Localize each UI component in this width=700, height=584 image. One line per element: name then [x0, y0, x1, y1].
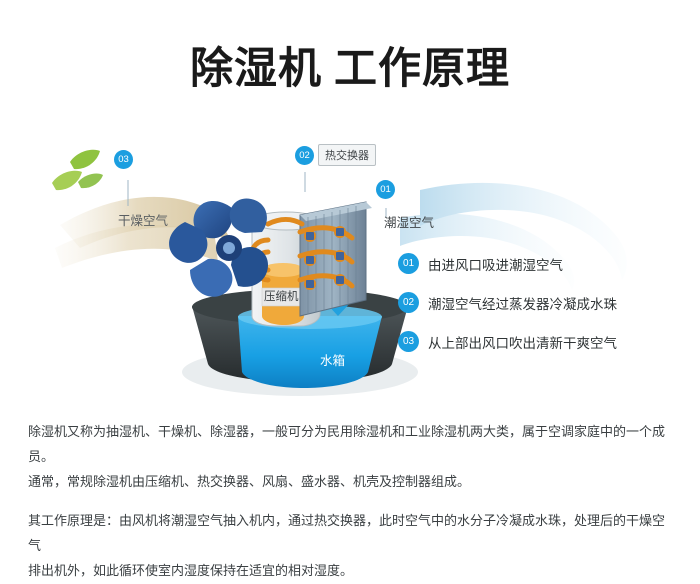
step-text-02: 潮湿空气经过蒸发器冷凝成水珠: [428, 293, 617, 313]
heat-exchanger-tag: 热交换器: [318, 144, 376, 166]
step-item: 03 从上部出风口吹出清新干爽空气: [398, 331, 698, 352]
step-text-03: 从上部出风口吹出清新干爽空气: [428, 332, 617, 352]
page-title: 除湿机工作原理: [0, 34, 700, 96]
badge-03-diagram: 03: [114, 150, 133, 169]
page-root: 除湿机工作原理: [0, 0, 700, 566]
leaf-icon: [52, 150, 103, 190]
step-text-01: 由进风口吸进潮湿空气: [428, 254, 563, 274]
water-tank-label: 水箱: [320, 350, 345, 369]
compressor-label: 压缩机: [264, 288, 299, 304]
humid-air-label: 潮湿空气: [384, 212, 434, 231]
paragraph-1-line-2: 通常，常规除湿机由压缩机、热交换器、风扇、盛水器、机壳及控制器组成。: [28, 475, 470, 490]
step-item: 02 潮湿空气经过蒸发器冷凝成水珠: [398, 292, 698, 313]
step-badge-01: 01: [398, 253, 419, 274]
title-sub-text: 工作原理: [334, 44, 510, 94]
badge-02-diagram: 02: [295, 146, 314, 165]
title-main-text: 除湿机: [190, 44, 322, 94]
paragraph-2-line-1: 由风机将潮湿空气抽入机内，通过热交换器，此时空气中的水分子冷凝成水珠，处理后的干…: [28, 514, 665, 554]
step-item: 01 由进风口吸进潮湿空气: [398, 253, 698, 274]
badge-01-diagram: 01: [376, 180, 395, 199]
dry-air-label: 干燥空气: [118, 210, 168, 229]
paragraph-1-line-1: 除湿机又称为抽湿机、干燥机、除湿器，一般可分为民用除湿机和工业除湿机两大类，属于…: [28, 425, 665, 465]
paragraph-2: 其工作原理是：由风机将潮湿空气抽入机内，通过热交换器，此时空气中的水分子冷凝成水…: [28, 509, 676, 584]
paragraph-2-line-2: 排出机外，如此循环使室内湿度保持在适宜的相对湿度。: [28, 564, 353, 579]
paragraph-2-lead: 其工作原理是：: [28, 514, 119, 529]
step-badge-02: 02: [398, 292, 419, 313]
body-copy: 除湿机又称为抽湿机、干燥机、除湿器，一般可分为民用除湿机和工业除湿机两大类，属于…: [28, 420, 676, 584]
paragraph-1: 除湿机又称为抽湿机、干燥机、除湿器，一般可分为民用除湿机和工业除湿机两大类，属于…: [28, 420, 676, 495]
steps-list: 01 由进风口吸进潮湿空气 02 潮湿空气经过蒸发器冷凝成水珠 03 从上部出风…: [398, 253, 698, 370]
step-badge-03: 03: [398, 331, 419, 352]
